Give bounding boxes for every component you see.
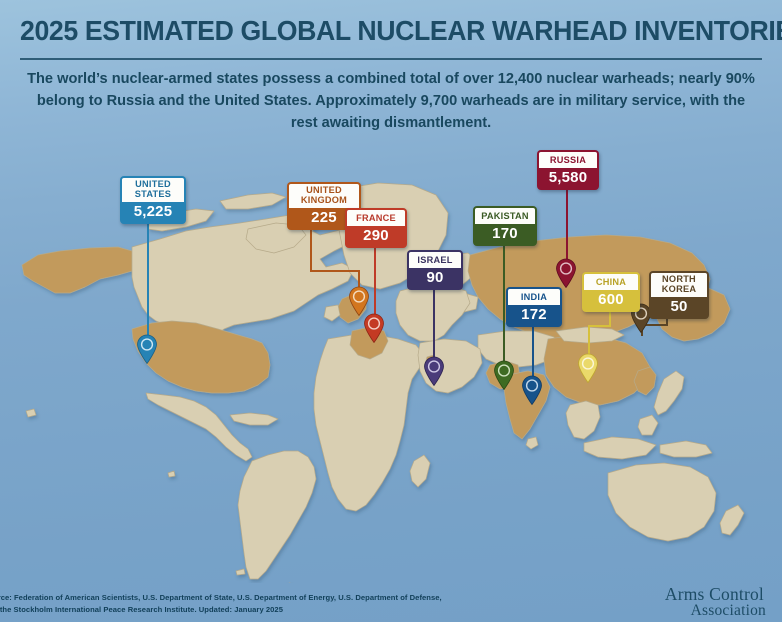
arms-control-association-logo[interactable]: Arms Control Association [614, 586, 764, 619]
logo-line-2: Association [614, 603, 766, 619]
subtitle-text: The world’s nuclear-armed states possess… [22, 68, 760, 135]
landmass-australia [608, 463, 716, 541]
label-north-korea-name: NORTH KOREA [651, 273, 707, 297]
landmass-southeast-asia [566, 401, 600, 439]
label-china-name: CHINA [584, 274, 638, 290]
landmass-ireland [324, 305, 340, 321]
landmass-small-island-2 [236, 569, 245, 575]
landmass-south-america [238, 451, 316, 579]
label-line-2: STATES [127, 190, 179, 200]
label-china[interactable]: CHINA 600 [582, 272, 640, 312]
label-india-name: INDIA [508, 289, 560, 305]
landmass-alaska [22, 247, 132, 293]
label-north-korea-value: 50 [651, 297, 707, 317]
landmass-caribbean [230, 413, 278, 425]
label-russia-value: 5,580 [539, 168, 597, 188]
landmass-hawaii [26, 409, 36, 417]
landmass-arctic-islands-2 [220, 193, 286, 209]
connector-china-b [588, 325, 611, 327]
label-russia-name: RUSSIA [539, 152, 597, 168]
label-france-name: FRANCE [347, 210, 405, 226]
label-india-value: 172 [508, 305, 560, 325]
infographic-root: 2025 ESTIMATED GLOBAL NUCLEAR WARHEAD IN… [0, 0, 782, 622]
map-pin-china[interactable] [577, 353, 599, 383]
connector-israel [433, 285, 435, 361]
title-divider [20, 58, 762, 60]
connector-united-states [147, 211, 149, 339]
map-pin-united-kingdom[interactable] [348, 286, 370, 316]
label-united-states-name: UNITED STATES [122, 178, 184, 202]
map-pin-israel[interactable] [423, 356, 445, 386]
label-line-2: KOREA [656, 285, 702, 295]
source-line-2: d the Stockholm International Peace Rese… [0, 604, 513, 616]
connector-pakistan [503, 241, 505, 365]
landmass-sri-lanka [526, 437, 538, 449]
label-russia[interactable]: RUSSIA 5,580 [537, 150, 599, 190]
landmass-madagascar [410, 455, 430, 487]
label-france-value: 290 [347, 226, 405, 246]
map-pin-india[interactable] [521, 375, 543, 405]
label-israel-value: 90 [409, 268, 461, 288]
connector-india [532, 322, 534, 380]
landmass-africa [314, 335, 424, 511]
label-united-states[interactable]: UNITED STATES 5,225 [120, 176, 186, 224]
landmass-japan [654, 371, 684, 415]
label-pakistan-name: PAKISTAN [475, 208, 535, 224]
landmass-new-guinea [660, 441, 712, 457]
label-united-kingdom-name: UNITED KINGDOM [289, 184, 359, 208]
landmass-small-island-1 [168, 471, 175, 477]
map-pin-united-states[interactable] [136, 334, 158, 364]
landmass-new-zealand [720, 505, 744, 535]
label-india[interactable]: INDIA 172 [506, 287, 562, 327]
label-united-states-value: 5,225 [122, 202, 184, 222]
label-france[interactable]: FRANCE 290 [345, 208, 407, 248]
header: 2025 ESTIMATED GLOBAL NUCLEAR WARHEAD IN… [0, 0, 782, 145]
source-line-1: urce: Federation of American Scientists,… [0, 592, 513, 604]
label-israel[interactable]: ISRAEL 90 [407, 250, 463, 290]
label-pakistan-value: 170 [475, 224, 535, 244]
map-pin-pakistan[interactable] [493, 360, 515, 390]
label-north-korea[interactable]: NORTH KOREA 50 [649, 271, 709, 319]
page-title: 2025 ESTIMATED GLOBAL NUCLEAR WARHEAD IN… [20, 17, 746, 46]
landmass-indonesia [584, 437, 656, 459]
source-citation: urce: Federation of American Scientists,… [0, 592, 513, 615]
logo-line-1: Arms Control [614, 586, 764, 603]
landmass-mexico [146, 393, 252, 461]
label-china-value: 600 [584, 290, 638, 310]
label-pakistan[interactable]: PAKISTAN 170 [473, 206, 537, 246]
connector-france [374, 243, 376, 318]
connector-united-kingdom-b [310, 270, 360, 272]
label-israel-name: ISRAEL [409, 252, 461, 268]
landmass-philippines [638, 415, 658, 435]
map-pin-russia[interactable] [555, 258, 577, 288]
connector-russia [566, 185, 568, 263]
label-line-2: KINGDOM [294, 196, 354, 206]
map-pin-france[interactable] [363, 313, 385, 343]
